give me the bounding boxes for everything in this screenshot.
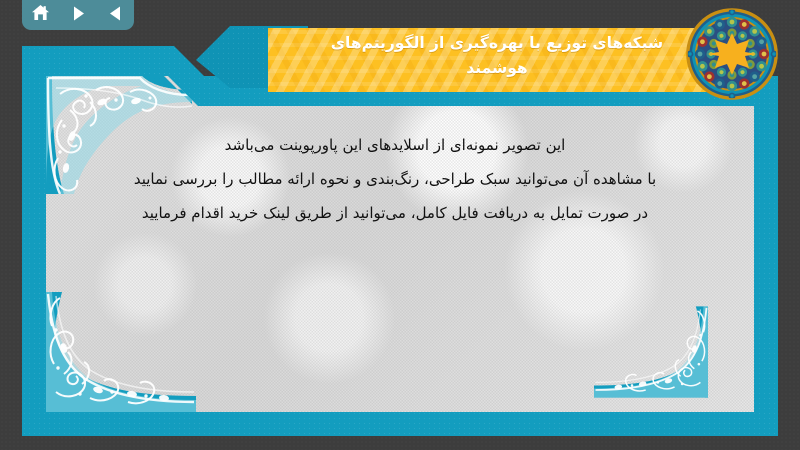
title-banner: کامل تعیین محل بهینه تجهیزات خازنی در شب… [268,28,726,92]
presentation-slide: کامل تعیین محل بهینه تجهیزات خازنی در شب… [0,0,800,450]
home-icon [31,4,50,22]
persian-medallion-ornament [684,6,780,102]
forward-button[interactable] [64,0,92,26]
triangle-left-icon [107,5,124,22]
triangle-right-icon [70,5,87,22]
slide-title-line-2: شبکه‌های توزیع با بهره‌گیری از الگوریتم‌… [268,31,726,56]
navigation-bar [22,0,134,30]
body-line-3: در صورت تمایل به دریافت فایل کامل، می‌تو… [60,196,730,230]
persian-medallion-icon [684,6,780,102]
back-button[interactable] [101,0,129,26]
slide-title-line-3: هوشمند [268,56,726,81]
home-button[interactable] [27,0,55,26]
slide-body-text: این تصویر نمونه‌ای از اسلایدهای این پاور… [60,128,730,230]
content-panel [46,76,754,412]
body-line-1: این تصویر نمونه‌ای از اسلایدهای این پاور… [60,128,730,162]
body-line-2: با مشاهده آن می‌توانید سبک طراحی، رنگ‌بن… [60,162,730,196]
